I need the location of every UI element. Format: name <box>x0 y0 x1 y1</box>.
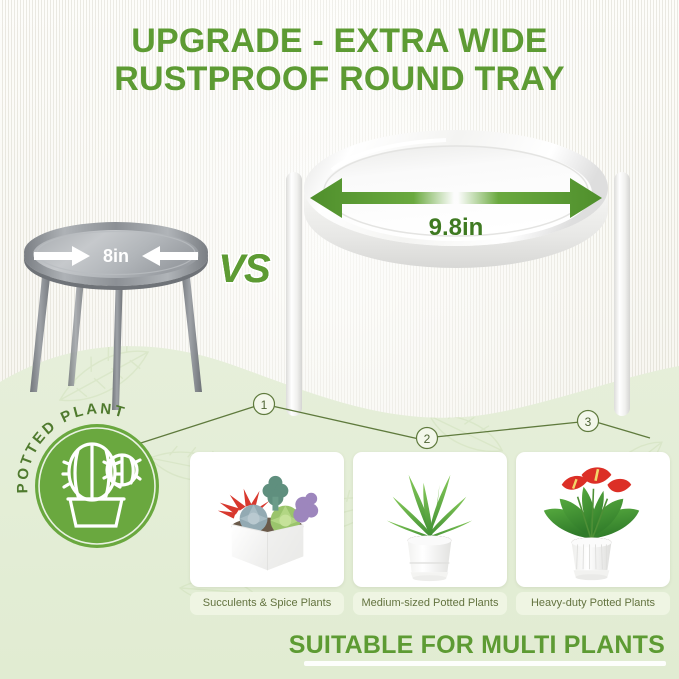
white-dimension-label: 9.8in <box>429 214 484 241</box>
caption-succulents: Succulents & Spice Plants <box>190 592 344 615</box>
footer-underline <box>304 661 666 666</box>
plant-card-list <box>190 452 670 587</box>
caption-medium: Medium-sized Potted Plants <box>353 592 507 615</box>
footer-headline: SUITABLE FOR MULTI PLANTS <box>0 631 679 660</box>
anthurium-flowers <box>562 467 632 492</box>
white-ribbed-pot <box>572 537 612 580</box>
title-line-1: UPGRADE - EXTRA WIDE <box>131 22 547 60</box>
caption-heavy: Heavy-duty Potted Plants <box>516 592 670 615</box>
gray-table-illustration: 8in <box>16 196 216 416</box>
white-tray-illustration: 9.8in <box>276 100 676 430</box>
vs-label: VS <box>208 247 280 292</box>
potted-plant-badge: POTTED PLANT <box>12 398 182 568</box>
plant-card-heavy[interactable] <box>516 452 670 587</box>
gray-dimension-label: 8in <box>103 246 129 266</box>
white-round-pot <box>408 535 452 581</box>
plant-caption-list: Succulents & Spice Plants Medium-sized P… <box>190 592 670 615</box>
title-line-2: RUSTPROOF ROUND TRAY <box>0 60 679 98</box>
plant-card-succulents[interactable] <box>190 452 344 587</box>
plant-card-medium[interactable] <box>353 452 507 587</box>
infographic-canvas: UPGRADE - EXTRA WIDE RUSTPROOF ROUND TRA… <box>0 0 679 679</box>
page-title: UPGRADE - EXTRA WIDE RUSTPROOF ROUND TRA… <box>0 22 679 98</box>
aloe-plant <box>387 475 472 539</box>
